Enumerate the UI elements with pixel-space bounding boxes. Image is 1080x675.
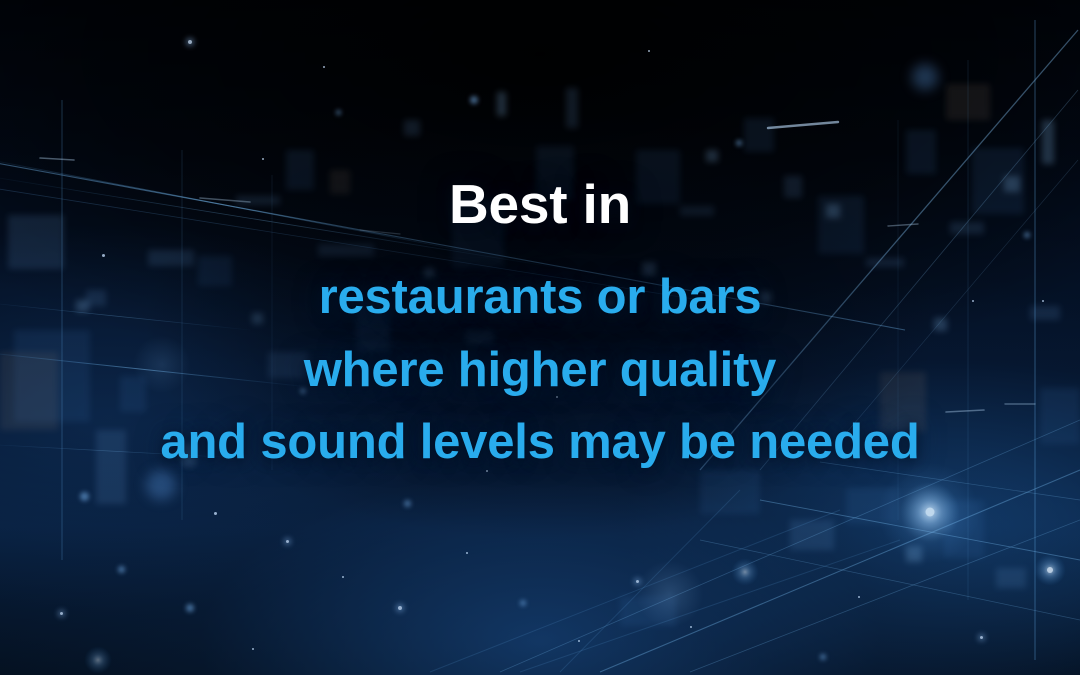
slide-body-lines: restaurants or bars where higher quality… (0, 261, 1080, 479)
slide-text-block: Best in restaurants or bars where higher… (0, 176, 1080, 479)
slide-canvas: Best in restaurants or bars where higher… (0, 0, 1080, 675)
slide-headline: Best in (0, 176, 1080, 233)
slide-body-line-1: restaurants or bars (0, 261, 1080, 334)
slide-body-line-2: where higher quality (0, 334, 1080, 407)
slide-body-line-3: and sound levels may be needed (0, 406, 1080, 479)
